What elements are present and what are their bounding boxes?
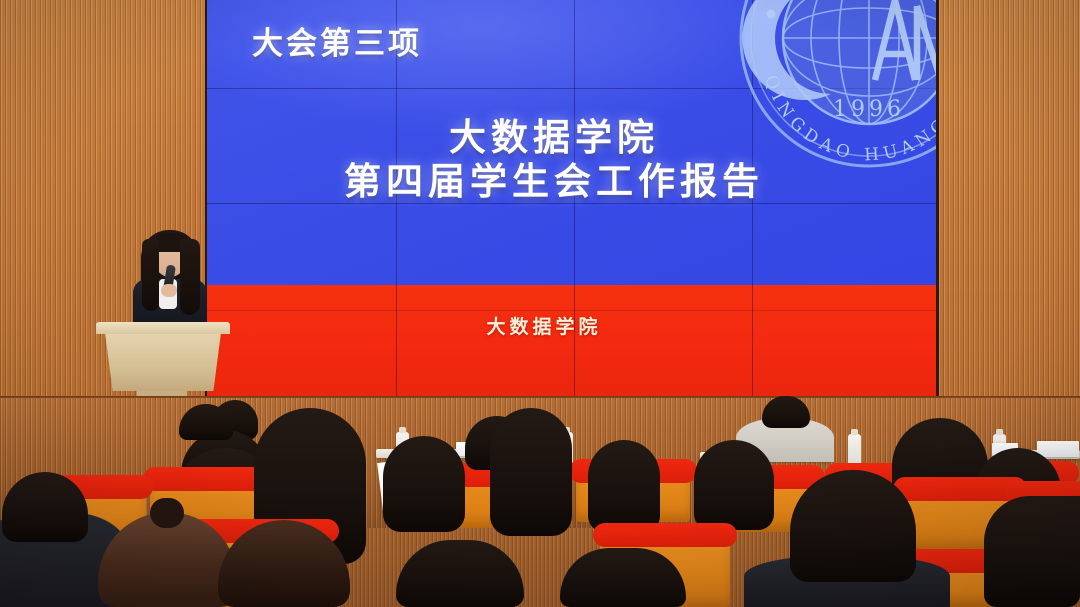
podium-body <box>100 333 226 391</box>
speaker-presenter <box>128 227 212 337</box>
slide-title-line1: 大数据学院 <box>207 116 901 160</box>
audience-member-hair <box>490 408 572 536</box>
slide-title-block: 大数据学院 第四届学生会工作报告 <box>207 116 939 203</box>
audience-member-head <box>984 496 1080 607</box>
speaker-hand <box>161 284 177 297</box>
podium-top <box>96 322 230 334</box>
audience-member-hair <box>383 436 465 532</box>
audience-member-hair <box>588 440 660 532</box>
audience-member-head <box>790 470 916 582</box>
name-card <box>1037 441 1079 457</box>
slide-title-line2: 第四届学生会工作报告 <box>207 160 901 204</box>
led-display-screen: 1996 QINGDAO HUANGHAI 青岛黄海学院 大会第三项 大数据学院… <box>205 0 939 406</box>
screen-red-band <box>207 285 936 406</box>
speaker-hair-left <box>142 239 159 311</box>
speaker-hair-right <box>180 239 200 315</box>
audience-member-hair-bun-knot <box>150 498 184 528</box>
conference-hall-photo: 1996 QINGDAO HUANGHAI 青岛黄海学院 大会第三项 大数据学院… <box>0 0 1080 607</box>
wood-wall-right <box>938 0 1080 430</box>
audience-member-hair <box>694 440 774 530</box>
slide-kicker-text: 大会第三项 <box>252 18 422 63</box>
slide-subtitle: 大数据学院 <box>207 312 939 339</box>
